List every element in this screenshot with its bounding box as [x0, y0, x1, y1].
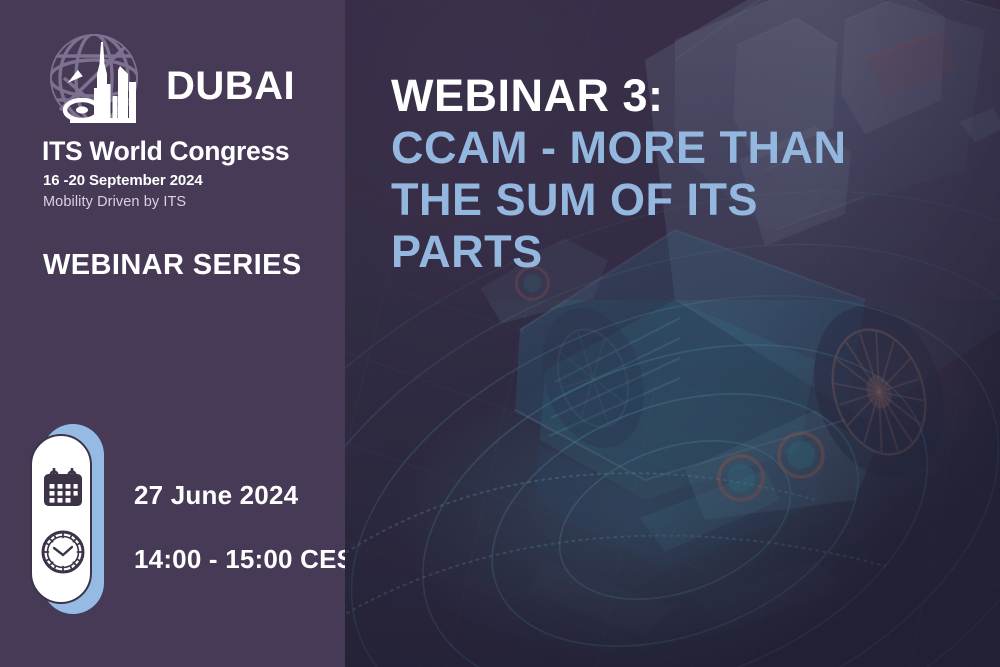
schedule-icon-pill: [30, 424, 104, 614]
congress-tagline: Mobility Driven by ITS: [43, 194, 186, 210]
congress-name: ITS World Congress: [42, 138, 289, 166]
logo-row: DUBAI: [38, 26, 318, 138]
calendar-icon: [39, 464, 87, 512]
dubai-wordmark-text: DUBAI: [166, 64, 295, 108]
right-artwork-panel: WEBINAR 3: CCAM - MORE THAN THE SUM OF I…: [345, 0, 1000, 667]
headline-line-4: PARTS: [391, 226, 991, 278]
headline-line-3: THE SUM OF ITS: [391, 174, 991, 226]
headline: WEBINAR 3: CCAM - MORE THAN THE SUM OF I…: [391, 70, 991, 278]
dubai-globe-skyline-logo: [38, 26, 160, 138]
left-branding-panel: DUBAI ITS World Congress 16 -20 Septembe…: [0, 0, 345, 667]
webinar-series-label: WEBINAR SERIES: [43, 249, 302, 282]
webinar-time: 14:00 - 15:00 CEST: [134, 544, 370, 575]
headline-line-2: CCAM - MORE THAN: [391, 122, 991, 174]
webinar-date: 27 June 2024: [134, 480, 298, 511]
clock-icon: [39, 528, 87, 576]
pill-front-shape: [30, 434, 92, 604]
congress-dates: 16 -20 September 2024: [43, 172, 203, 189]
dubai-wordmark: DUBAI: [166, 61, 316, 111]
schedule-block: 27 June 2024 14:00 - 15:00 CEST: [30, 424, 330, 614]
brand-block: DUBAI ITS World Congress 16 -20 Septembe…: [38, 26, 318, 138]
webinar-promo-poster: DUBAI ITS World Congress 16 -20 Septembe…: [0, 0, 1000, 667]
headline-line-1: WEBINAR 3:: [391, 70, 991, 122]
